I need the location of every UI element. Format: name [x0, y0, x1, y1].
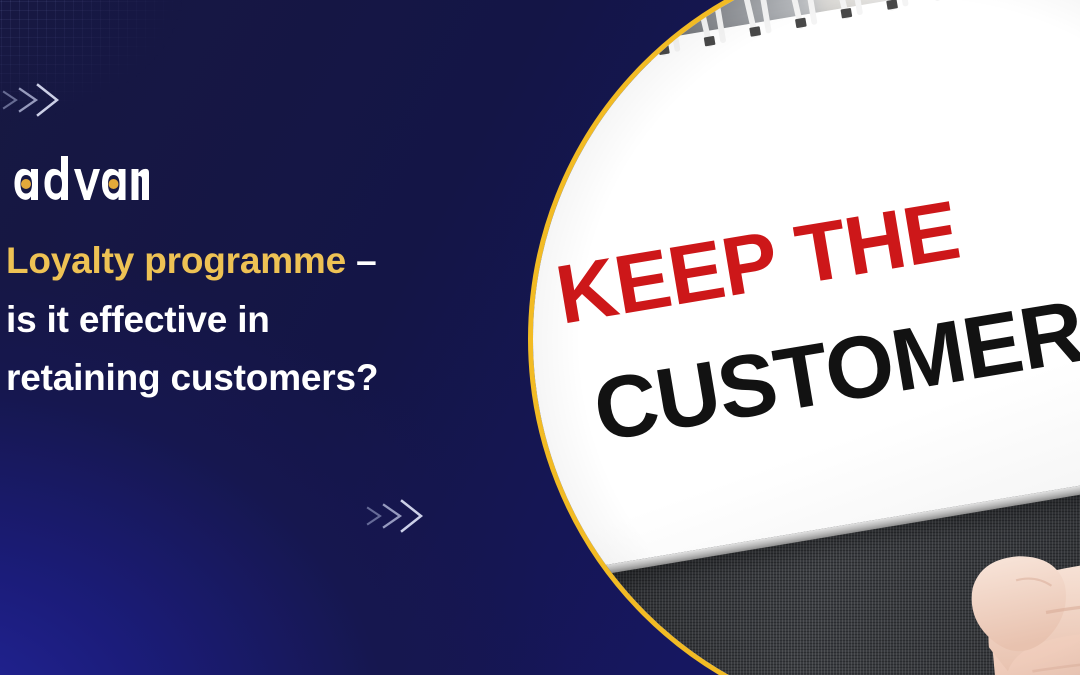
headline: Loyalty programme – is it effective in r…: [6, 232, 526, 408]
headline-line-3: retaining customers?: [6, 349, 526, 408]
headline-dash: –: [356, 240, 376, 281]
headline-highlight: Loyalty programme: [6, 240, 346, 281]
blog-banner: Loyalty programme – is it effective in r…: [0, 0, 1080, 675]
advan-logo[interactable]: [14, 156, 149, 200]
triple-chevron-right-icon-top: [2, 82, 60, 118]
triple-chevron-right-icon-middle: [366, 498, 424, 534]
hand-holding-notepad: [842, 385, 1080, 675]
headline-line-1: Loyalty programme –: [6, 232, 526, 291]
headline-line-2: is it effective in: [6, 291, 526, 350]
dot-grid-texture: [0, 0, 222, 142]
hero-photo-circle: KEEP THE CUSTOMER: [528, 0, 1080, 675]
hero-photo: KEEP THE CUSTOMER: [533, 0, 1080, 675]
